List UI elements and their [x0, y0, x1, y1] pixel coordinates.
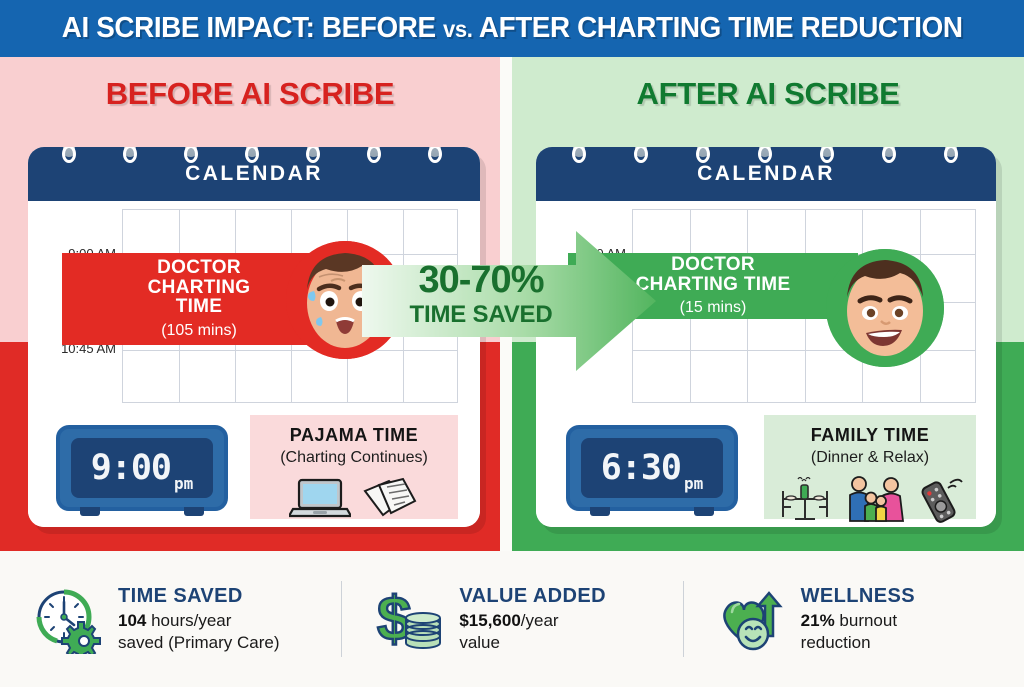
calendar-ring — [367, 147, 381, 165]
before-clock-meridiem: pm — [174, 474, 193, 493]
pajama-time-subtitle: (Charting Continues) — [280, 449, 428, 467]
calendar-ring — [882, 147, 896, 165]
calendar-ring — [62, 147, 76, 165]
page-title: AI SCRIBE IMPACT: BEFORE vs. AFTER CHART… — [62, 12, 963, 45]
pajama-time-icons — [289, 475, 419, 521]
laptop-icon — [289, 477, 351, 521]
time-saved-label: TIME SAVED — [386, 301, 576, 329]
after-clock-time: 6:30 — [601, 448, 681, 488]
family-time-title: FAMILY TIME — [811, 425, 930, 446]
stat-time-saved-text: TIME SAVED 104 hours/yearsaved (Primary … — [118, 585, 280, 654]
stat-time-saved-value: 104 — [118, 611, 146, 630]
before-block-line2: CHARTING — [148, 277, 251, 298]
stat-value-added-heading: VALUE ADDED — [459, 585, 606, 608]
tv-remote-icon — [917, 477, 963, 523]
stat-wellness-detail: 21% burnoutreduction — [801, 610, 915, 654]
stat-wellness: WELLNESS 21% burnoutreduction — [683, 584, 1024, 654]
after-block-duration: (15 mins) — [680, 299, 747, 317]
stat-time-saved-heading: TIME SAVED — [118, 585, 280, 608]
before-block-duration: (105 mins) — [161, 322, 237, 340]
stat-time-saved-detail: 104 hours/yearsaved (Primary Care) — [118, 610, 280, 654]
after-calendar-header: CALENDAR — [536, 147, 996, 201]
stat-wellness-text: WELLNESS 21% burnoutreduction — [801, 585, 915, 654]
before-clock-face: 9:00 pm — [71, 438, 213, 498]
stat-value-added: $ VALUE ADDED $15,600/yearvalue — [341, 584, 682, 654]
stat-wellness-heading: WELLNESS — [801, 585, 915, 608]
family-time-panel: FAMILY TIME (Dinner & Relax) — [764, 415, 976, 519]
family-icon — [843, 475, 907, 523]
time-saved-percent: 30-70% — [386, 261, 576, 299]
family-time-subtitle: (Dinner & Relax) — [811, 449, 929, 467]
title-vs: vs. — [443, 16, 473, 42]
before-block-line3: TIME — [176, 296, 223, 317]
before-clock-time: 9:00 — [91, 448, 171, 488]
stat-value-added-text: VALUE ADDED $15,600/yearvalue — [459, 585, 606, 654]
happy-doctor-face-icon — [826, 249, 944, 367]
time-saved-arrow-text: 30-70% TIME SAVED — [386, 261, 576, 329]
after-clock-face: 6:30 pm — [581, 438, 723, 498]
heart-smile-arrow-icon — [717, 584, 787, 654]
before-block-line1: DOCTOR — [157, 257, 241, 278]
dollar-coins-icon: $ — [375, 584, 445, 654]
infographic-page: AI SCRIBE IMPACT: BEFORE vs. AFTER CHART… — [0, 0, 1024, 687]
dinner-table-icon — [777, 477, 833, 523]
after-clock: 6:30 pm — [566, 425, 738, 511]
before-calendar-label: CALENDAR — [185, 162, 323, 186]
stat-value-added-detail: $15,600/yearvalue — [459, 610, 606, 654]
after-section-heading: AFTER AI SCRIBE — [512, 76, 1024, 112]
calendar-ring — [572, 147, 586, 165]
paperwork-icon — [361, 475, 419, 521]
calendar-ring — [944, 147, 958, 165]
after-clock-meridiem: pm — [684, 474, 703, 493]
stat-wellness-value: 21% — [801, 611, 835, 630]
before-clock: 9:00 pm — [56, 425, 228, 511]
pajama-time-panel: PAJAMA TIME (Charting Continues) — [250, 415, 458, 519]
stat-value-added-value: $15,600 — [459, 611, 520, 630]
after-calendar-label: CALENDAR — [697, 162, 835, 186]
before-section-heading: BEFORE AI SCRIBE — [0, 76, 500, 112]
stat-time-saved: TIME SAVED 104 hours/yearsaved (Primary … — [0, 584, 341, 654]
calendar-ring — [428, 147, 442, 165]
after-block-line2: CHARTING TIME — [636, 274, 791, 295]
clock-gear-icon — [34, 584, 104, 654]
before-calendar-header: CALENDAR — [28, 147, 480, 201]
after-block-line1: DOCTOR — [671, 254, 755, 275]
stats-bar: TIME SAVED 104 hours/yearsaved (Primary … — [0, 551, 1024, 687]
calendar-ring — [123, 147, 137, 165]
time-saved-arrow: 30-70% TIME SAVED — [362, 231, 656, 371]
pajama-time-title: PAJAMA TIME — [290, 425, 419, 446]
calendar-ring — [634, 147, 648, 165]
family-time-icons — [777, 475, 963, 523]
title-bar: AI SCRIBE IMPACT: BEFORE vs. AFTER CHART… — [0, 0, 1024, 57]
